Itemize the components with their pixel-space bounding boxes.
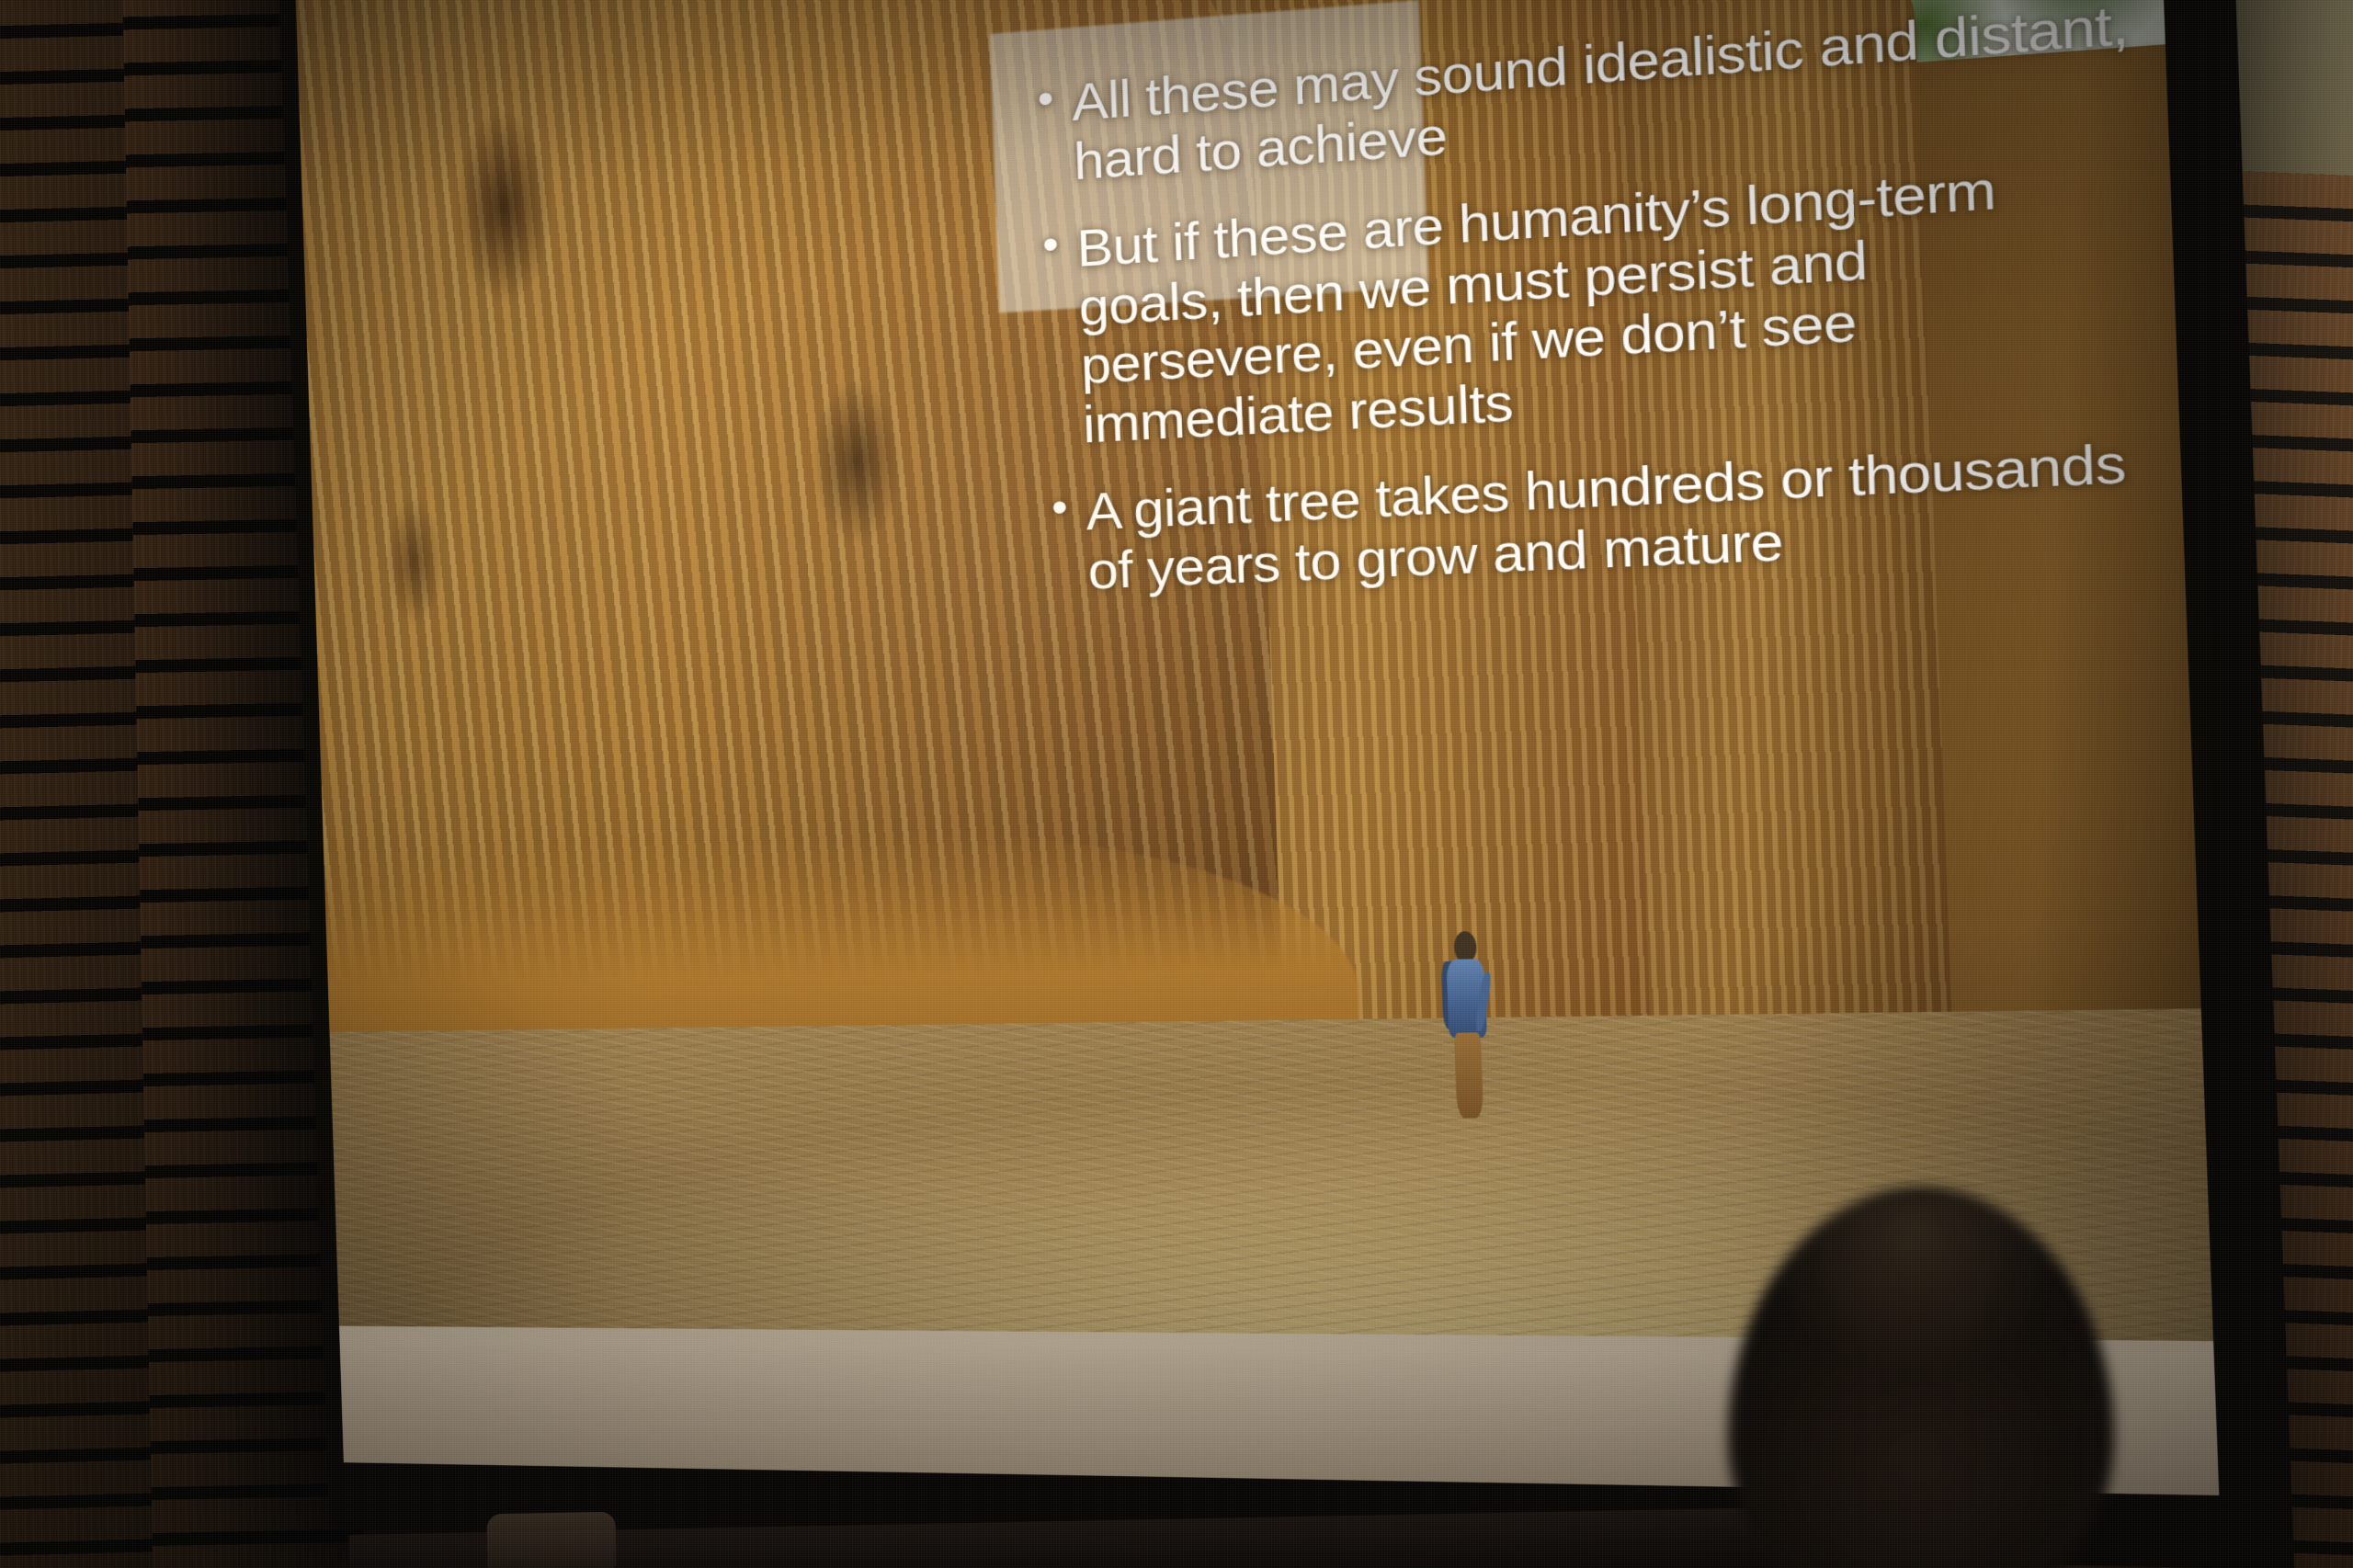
desk-object-silhouette xyxy=(486,1512,616,1568)
slide-bullet-2: But if these are humanity’s long-term go… xyxy=(1041,151,2146,457)
hiker-legs xyxy=(1454,1032,1483,1119)
lecture-hall-scene: All these may sound idealistic and dista… xyxy=(0,0,2353,1568)
slide-bullet-3: A giant tree takes hundreds or thousands… xyxy=(1051,432,2153,602)
slide-bullet-list: All these may sound idealistic and dista… xyxy=(1037,0,2154,631)
presentation-slide: All these may sound idealistic and dista… xyxy=(295,0,2213,1341)
audience-member-head xyxy=(1728,1187,2114,1568)
photo-hiker xyxy=(1439,931,1496,1119)
